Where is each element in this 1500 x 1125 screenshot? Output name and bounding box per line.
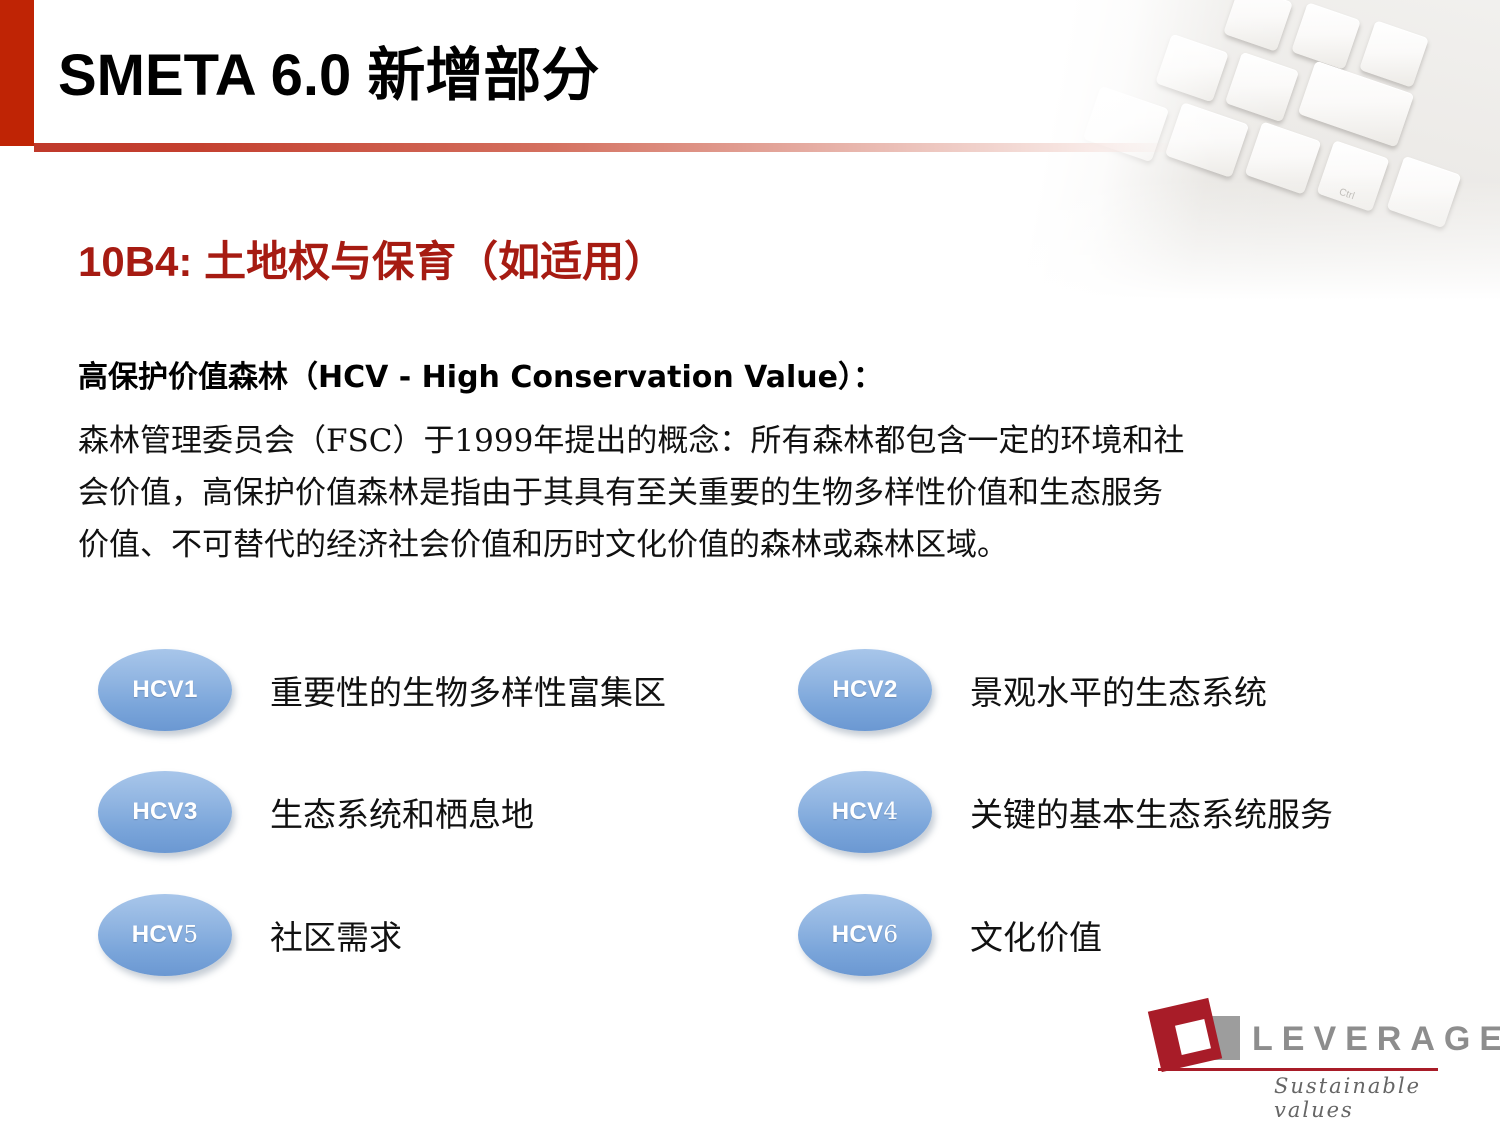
hcv-item-text: 社区需求 (270, 911, 402, 959)
hcv-list: HCV1 重要性的生物多样性富集区 HCV2 景观水平的生态系统 HCV3 生态… (98, 645, 1418, 985)
key-enter (1298, 61, 1415, 148)
key-cap (1225, 52, 1299, 123)
hcv-badge-oval: HCV6 (798, 894, 932, 976)
key-cap (1291, 2, 1361, 69)
paragraph-line: 价值、不可替代的经济社会价值和历时文化价值的森林或森林区域。 (78, 519, 1428, 571)
hcv-item-4[interactable]: HCV4 关键的基本生态系统服务 (798, 771, 1333, 853)
hcv-badge-oval: HCV5 (98, 894, 232, 976)
hcv-badge-oval: HCV2 (798, 649, 932, 731)
slide: Ctrl SMETA 6.0 新增部分 10B4: 土地权与保育（如适用） 高保… (0, 0, 1500, 1125)
hcv-badge-oval: HCV3 (98, 771, 232, 853)
key-cap (1387, 156, 1462, 228)
title-accent-bar (0, 0, 34, 146)
hcv-badge-label: HCV1 (132, 676, 197, 704)
key-cap (1245, 121, 1322, 194)
hcv-item-text: 重要性的生物多样性富集区 (270, 666, 666, 714)
hcv-item-6[interactable]: HCV6 文化价值 (798, 894, 1102, 976)
hcv-item-3[interactable]: HCV3 生态系统和栖息地 (98, 771, 534, 853)
section-heading: 10B4: 土地权与保育（如适用） (78, 228, 666, 289)
section-heading-text: 土地权与保育（如适用） (204, 237, 666, 286)
keyboard-edge (900, 258, 1500, 300)
paragraph-line: 会价值，高保护价值森林是指由于其具有至关重要的生物多样性价值和生态服务 (78, 467, 1428, 519)
definition-paragraph: 森林管理委员会（FSC）于1999年提出的概念：所有森林都包含一定的环境和社 会… (78, 415, 1428, 571)
key-cap (1223, 0, 1293, 52)
hcv-item-1[interactable]: HCV1 重要性的生物多样性富集区 (98, 649, 666, 731)
hcv-item-2[interactable]: HCV2 景观水平的生态系统 (798, 649, 1267, 731)
hcv-badge-label: HCV5 (132, 921, 199, 949)
logo-tagline: Sustainable values (1274, 1074, 1448, 1122)
logo-underline (1158, 1068, 1438, 1071)
hcv-item-5[interactable]: HCV5 社区需求 (98, 894, 402, 976)
page-title-cjk: 新增部分 (367, 41, 599, 109)
company-logo: LEVERAGE Sustainable values (1148, 1000, 1448, 1100)
hcv-item-text: 关键的基本生态系统服务 (970, 788, 1333, 836)
key-cap (1155, 34, 1229, 103)
key-ctrl: Ctrl (1316, 140, 1389, 212)
paragraph-line: 森林管理委员会（FSC）于1999年提出的概念：所有森林都包含一定的环境和社 (78, 415, 1428, 467)
key-cap (1359, 20, 1429, 87)
hcv-item-text: 生态系统和栖息地 (270, 788, 534, 836)
hcv-badge-oval: HCV1 (98, 649, 232, 731)
section-code: 10B4: (78, 238, 192, 285)
hcv-badge-label: HCV3 (132, 798, 197, 826)
logo-wordmark: LEVERAGE (1252, 1020, 1500, 1059)
hcv-badge-label: HCV2 (832, 676, 897, 704)
page-title-latin: SMETA 6.0 (58, 43, 351, 108)
hcv-badge-label: HCV6 (832, 921, 899, 949)
hcv-item-text: 景观水平的生态系统 (970, 666, 1267, 714)
definition-lead: 高保护价值森林（HCV - High Conservation Value）： (78, 352, 883, 396)
keyboard-fade-bottom (900, 180, 1500, 300)
key-cap (1165, 102, 1249, 178)
page-title: SMETA 6.0 新增部分 (58, 28, 599, 112)
hcv-item-text: 文化价值 (970, 911, 1102, 959)
hcv-badge-label: HCV4 (832, 798, 899, 826)
title-divider (34, 143, 1174, 152)
hcv-badge-oval: HCV4 (798, 771, 932, 853)
